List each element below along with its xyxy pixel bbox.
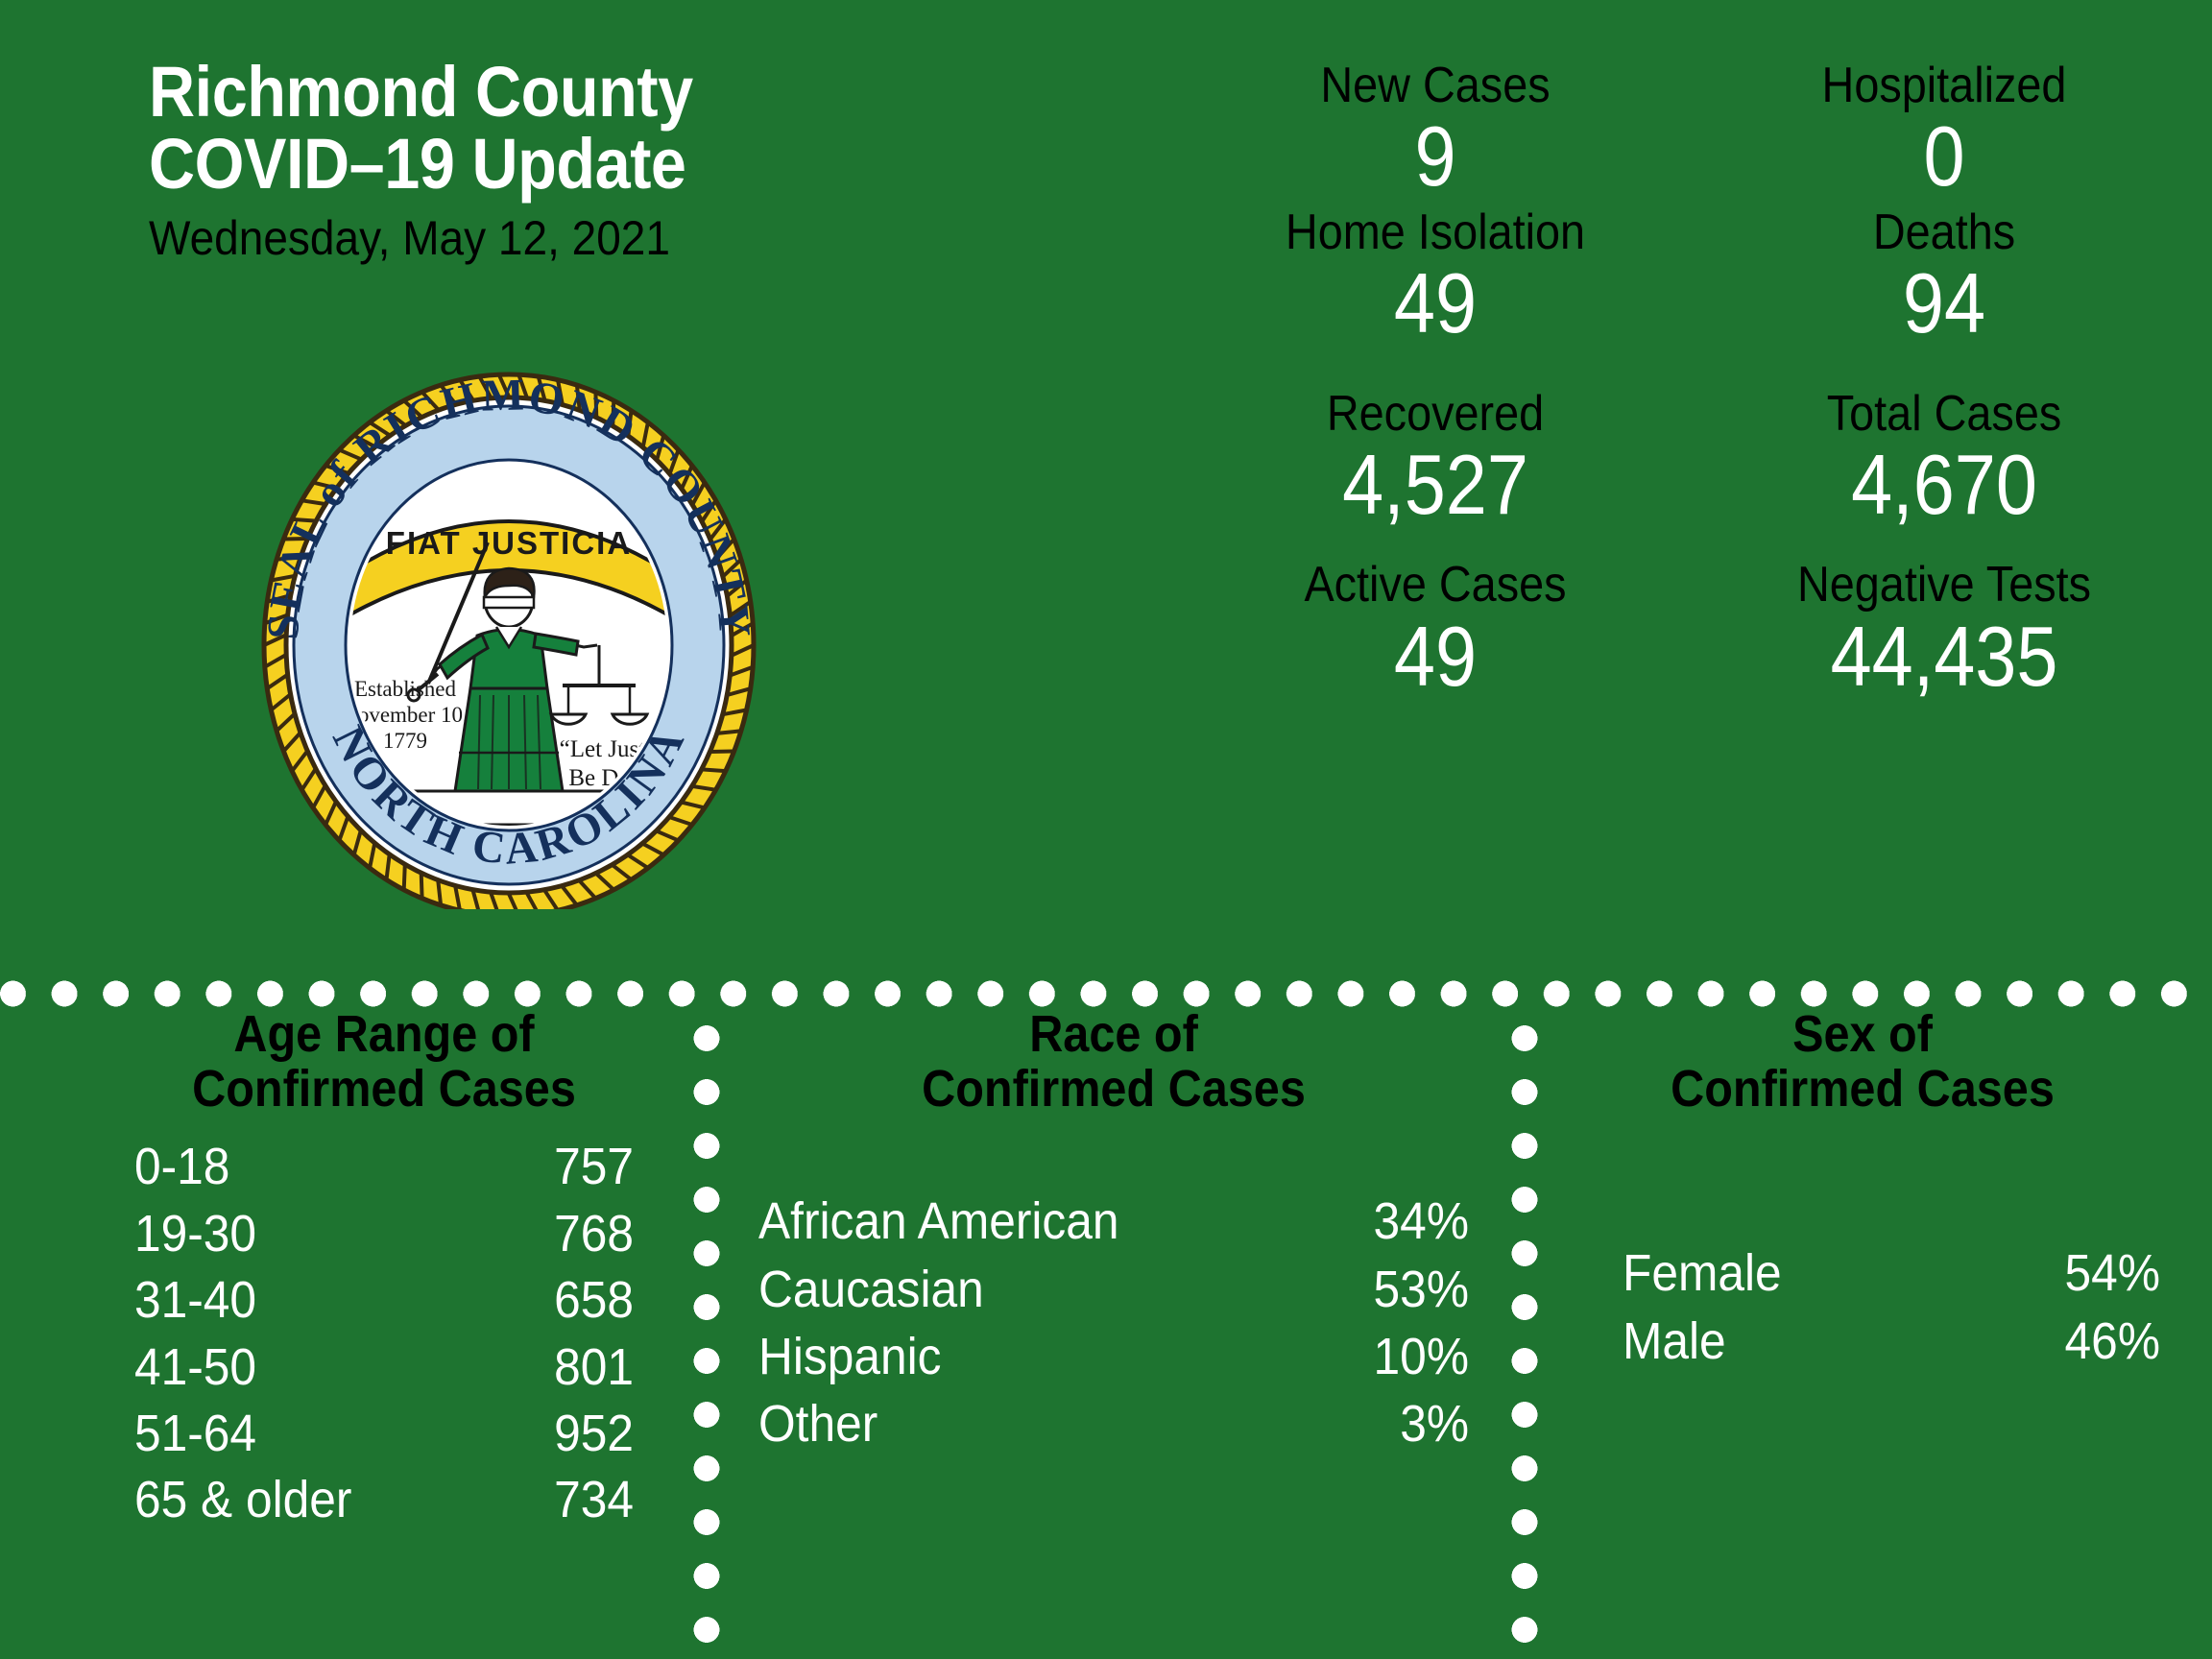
stat-new-cases: New Cases 9	[1181, 58, 1690, 204]
county-seal: SEAL of RICHMOND COUNTY NORTH CAROLINA F…	[240, 357, 778, 909]
seal-established-line-3: 1779	[383, 729, 427, 753]
report-date: Wednesday, May 12, 2021	[149, 210, 838, 266]
race-row-label: Hispanic	[758, 1323, 1253, 1390]
horizontal-dotted-divider	[0, 980, 2212, 1007]
stat-value: 4,670	[1720, 438, 2168, 533]
race-row-label: Caucasian	[758, 1256, 1253, 1323]
age-row: 31-40 658	[134, 1267, 634, 1334]
stat-label: Hospitalized	[1716, 58, 2174, 113]
stat-deaths: Deaths 94	[1690, 204, 2199, 351]
age-row-value: 734	[528, 1467, 634, 1533]
summary-stats-grid: New Cases 9 Hospitalized 0 Home Isolatio…	[1181, 58, 2199, 704]
race-row-label: Other	[758, 1390, 1253, 1457]
infographic-page: Richmond County COVID–19 Update Wednesda…	[0, 0, 2212, 1659]
age-row: 41-50 801	[134, 1334, 634, 1401]
sex-panel-heading-line-2: Confirmed Cases	[1595, 1062, 2130, 1117]
stats-spacer	[1181, 351, 2199, 386]
age-row-label: 65 & older	[134, 1467, 382, 1533]
stat-value: 94	[1720, 256, 2168, 351]
sex-panel-heading-line-1: Sex of	[1595, 1007, 2130, 1062]
race-row: Hispanic 10%	[758, 1323, 1469, 1390]
age-row-value: 757	[528, 1134, 634, 1200]
stat-value: 44,435	[1720, 610, 2168, 705]
stats-row-2: Home Isolation 49 Deaths 94	[1181, 204, 2199, 351]
age-row-value: 801	[528, 1334, 634, 1401]
stat-value: 49	[1212, 256, 1659, 351]
stat-value: 0	[1720, 109, 2168, 204]
sex-row-label: Male	[1623, 1308, 1887, 1375]
stat-recovered: Recovered 4,527	[1181, 386, 1690, 533]
stats-row-3: Recovered 4,527 Total Cases 4,670	[1181, 386, 2199, 533]
race-row: Other 3%	[758, 1390, 1469, 1457]
stat-label: Home Isolation	[1207, 204, 1665, 260]
race-rows: African American 34% Caucasian 53% Hispa…	[758, 1188, 1469, 1457]
sex-row-label: Female	[1623, 1239, 1887, 1307]
stats-row-4: Active Cases 49 Negative Tests 44,435	[1181, 557, 2199, 704]
age-row-label: 51-64	[134, 1401, 382, 1467]
title-block: Richmond County COVID–19 Update Wednesda…	[149, 56, 898, 266]
race-row-value: 3%	[1336, 1390, 1469, 1457]
age-row: 0-18 757	[134, 1134, 634, 1200]
stat-home-isolation: Home Isolation 49	[1181, 204, 1690, 351]
sex-rows: Female 54% Male 46%	[1565, 1239, 2160, 1374]
stat-label: Negative Tests	[1716, 557, 2174, 613]
race-row-value: 53%	[1336, 1256, 1469, 1323]
race-row-value: 10%	[1336, 1323, 1469, 1390]
stat-value: 4,527	[1212, 438, 1659, 533]
age-panel-heading-line-2: Confirmed Cases	[159, 1062, 609, 1117]
race-row-label: African American	[758, 1188, 1253, 1255]
seal-established-line-1: Established	[354, 677, 457, 701]
page-title-line-2: COVID–19 Update	[149, 128, 823, 200]
stats-row-1: New Cases 9 Hospitalized 0	[1181, 58, 2199, 204]
stat-negative-tests: Negative Tests 44,435	[1690, 557, 2199, 704]
race-panel: Race of Confirmed Cases African American…	[758, 1007, 1469, 1457]
sex-row-value: 46%	[2028, 1308, 2160, 1375]
age-row: 51-64 952	[134, 1401, 634, 1467]
sex-row: Female 54%	[1623, 1239, 2160, 1307]
age-row-label: 41-50	[134, 1334, 382, 1401]
stat-total-cases: Total Cases 4,670	[1690, 386, 2199, 533]
stat-label: New Cases	[1207, 58, 1665, 113]
stat-hospitalized: Hospitalized 0	[1690, 58, 2199, 204]
race-panel-heading-line-2: Confirmed Cases	[794, 1062, 1433, 1117]
sex-row-value: 54%	[2028, 1239, 2160, 1307]
page-title-line-1: Richmond County	[149, 56, 823, 128]
race-row: Caucasian 53%	[758, 1256, 1469, 1323]
stat-value: 49	[1212, 610, 1659, 705]
stat-label: Total Cases	[1716, 386, 2174, 442]
age-row-value: 768	[528, 1201, 634, 1267]
bottom-section: Age Range of Confirmed Cases 0-18 757 19…	[0, 1007, 2212, 1659]
sex-row: Male 46%	[1623, 1308, 2160, 1375]
stat-value: 9	[1212, 109, 1659, 204]
seal-banner-motto: FIAT JUSTICIA	[386, 525, 632, 561]
age-row: 19-30 768	[134, 1201, 634, 1267]
age-panel-heading-line-1: Age Range of	[159, 1007, 609, 1062]
top-section: Richmond County COVID–19 Update Wednesda…	[0, 0, 2212, 979]
stat-label: Deaths	[1716, 204, 2174, 260]
sex-panel: Sex of Confirmed Cases Female 54% Male 4…	[1565, 1007, 2160, 1375]
age-row-label: 31-40	[134, 1267, 382, 1334]
age-row-value: 658	[528, 1267, 634, 1334]
stat-label: Active Cases	[1207, 557, 1665, 613]
stat-label: Recovered	[1207, 386, 1665, 442]
stats-spacer-2	[1181, 532, 2199, 557]
stat-active-cases: Active Cases 49	[1181, 557, 1690, 704]
age-range-panel: Age Range of Confirmed Cases 0-18 757 19…	[134, 1007, 634, 1534]
age-rows: 0-18 757 19-30 768 31-40 658 41-50 801 5…	[134, 1134, 634, 1533]
age-row: 65 & older 734	[134, 1467, 634, 1533]
age-row-value: 952	[528, 1401, 634, 1467]
race-row: African American 34%	[758, 1188, 1469, 1255]
race-panel-heading-line-1: Race of	[794, 1007, 1433, 1062]
age-row-label: 0-18	[134, 1134, 382, 1200]
race-row-value: 34%	[1336, 1188, 1469, 1255]
age-row-label: 19-30	[134, 1201, 382, 1267]
